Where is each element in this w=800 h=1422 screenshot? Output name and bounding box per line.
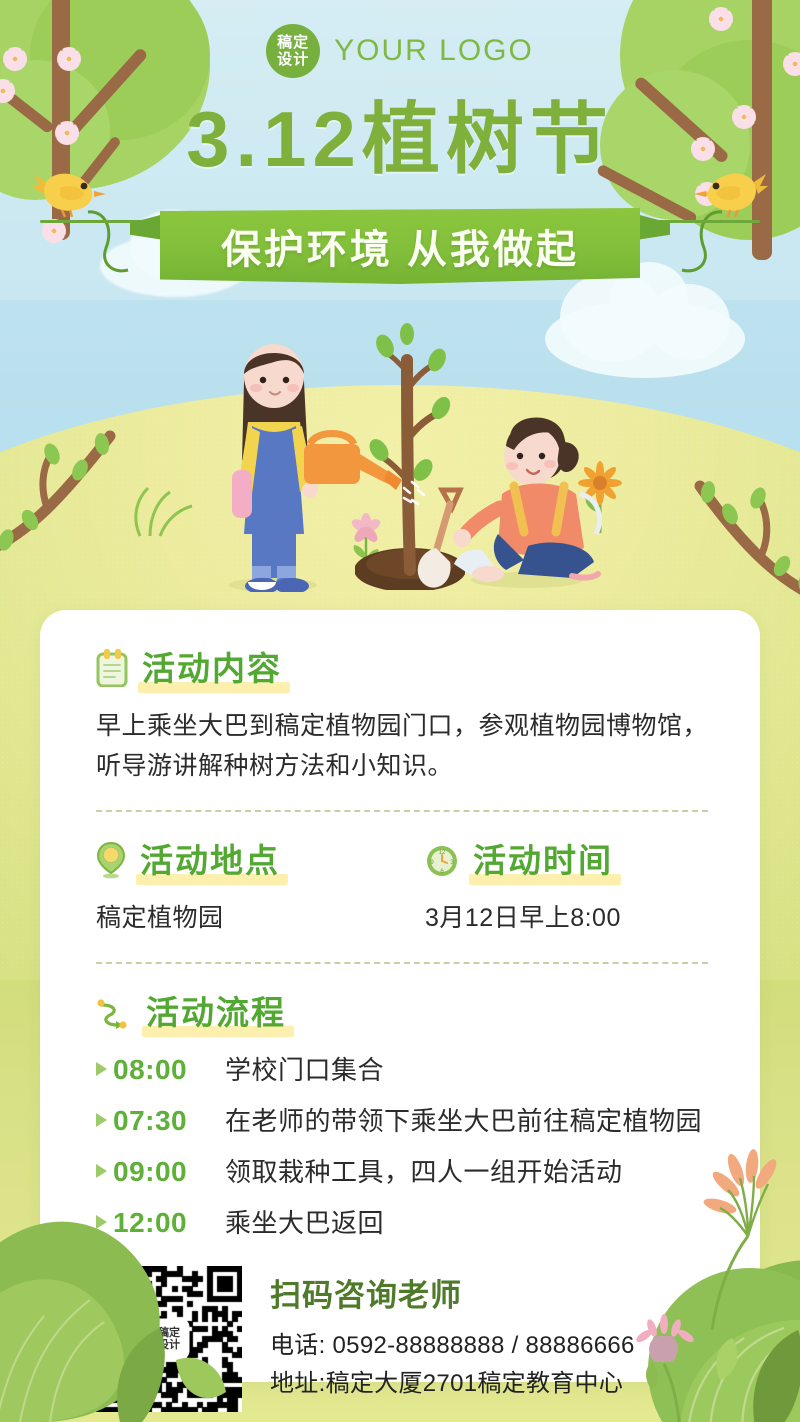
brand-badge-line2: 设计: [277, 51, 309, 68]
map-pin-icon: [96, 841, 126, 884]
shovel-icon: [400, 482, 490, 594]
banner-area: 保护环境 从我做起: [0, 200, 800, 292]
bare-branch-right: [620, 440, 800, 610]
section-header-time: 123 69 活动时间: [425, 834, 708, 884]
slogan-text: 保护环境 从我做起: [221, 217, 579, 275]
foliage-bottom-right: [560, 1140, 800, 1422]
bullet-arrow-icon: [96, 1113, 107, 1127]
clipboard-icon: [96, 649, 128, 692]
section-title-time: 活动时间: [469, 834, 617, 884]
logo-row: 稿定 设计 YOUR LOGO: [0, 24, 800, 78]
section-header-schedule: 活动流程: [96, 986, 708, 1036]
location-time-row: 活动地点 稿定植物园 123 69: [96, 834, 708, 938]
bullet-arrow-icon: [96, 1062, 107, 1076]
divider-2: [96, 962, 708, 964]
poster-canvas: 稿定 设计 YOUR LOGO 3.12植树节 保护环境 从我做起: [0, 0, 800, 1422]
schedule-desc: 在老师的带领下乘坐大巴前往稿定植物园: [225, 1101, 702, 1138]
brand-badge-line1: 稿定: [277, 34, 309, 51]
location-block: 活动地点 稿定植物园: [96, 834, 379, 938]
page-title: 3.12植树节: [0, 96, 800, 182]
foliage-bottom-left: [0, 1130, 230, 1422]
section-title-content: 活动内容: [138, 642, 286, 692]
slogan-banner: 保护环境 从我做起: [160, 208, 640, 284]
schedule-desc: 乘坐大巴返回: [225, 1203, 384, 1240]
divider-1: [96, 810, 708, 812]
schedule-desc: 学校门口集合: [225, 1050, 384, 1087]
location-value: 稿定植物园: [96, 898, 379, 938]
brand-badge: 稿定 设计: [266, 24, 320, 78]
section-title-location: 活动地点: [136, 834, 284, 884]
schedule-time: 08:00: [113, 1054, 225, 1086]
bare-branch-left: [0, 400, 180, 560]
section-header-location: 活动地点: [96, 834, 379, 884]
schedule-row: 08:00 学校门口集合: [96, 1050, 708, 1087]
time-value: 3月12日早上8:00: [425, 898, 708, 938]
banner-tail-right: [636, 214, 670, 240]
banner-tail-left: [130, 214, 164, 240]
clock-icon: 123 69: [425, 843, 459, 884]
logo-text: YOUR LOGO: [334, 34, 534, 68]
section-header-content: 活动内容: [96, 642, 708, 692]
flow-path-icon: [96, 997, 132, 1036]
section-title-schedule: 活动流程: [142, 986, 290, 1036]
activity-content-text: 早上乘坐大巴到稿定植物园门口，参观植物园博物馆，听导游讲解种树方法和小知识。: [96, 706, 708, 786]
time-block: 123 69 活动时间 3月12日早上8:00: [379, 834, 708, 938]
